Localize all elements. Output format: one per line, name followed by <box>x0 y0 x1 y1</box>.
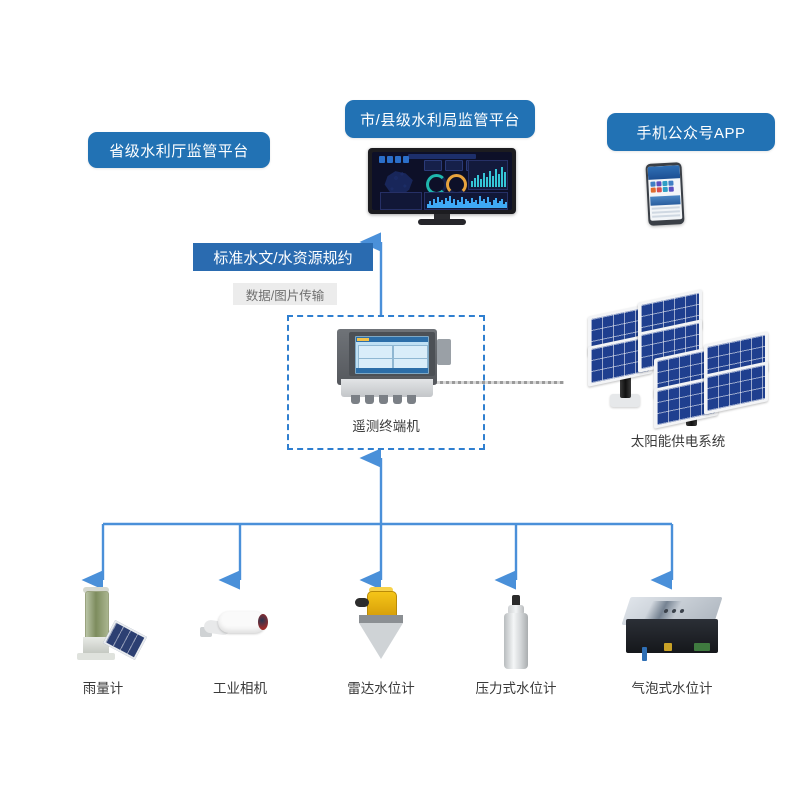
sensor-label: 气泡式水位计 <box>602 677 742 697</box>
platform-province-button[interactable]: 省级水利厅监管平台 <box>88 132 270 168</box>
diagram-canvas: 省级水利厅监管平台 市/县级水利局监管平台 手机公众号APP <box>0 0 800 800</box>
sensor-rain-gauge: 雨量计 <box>33 585 173 697</box>
platform-app-button[interactable]: 手机公众号APP <box>607 113 775 151</box>
rtu-terminal-icon <box>329 329 447 404</box>
protocol-label: 标准水文/水资源规约 <box>193 243 373 271</box>
sensor-radar-level-gauge: 雷达水位计 <box>311 585 451 697</box>
rtu-enclosure <box>337 329 437 385</box>
rtu-display <box>355 336 429 374</box>
rtu-antenna <box>434 381 564 384</box>
phone-list <box>652 206 681 219</box>
industrial-camera-icon <box>170 585 310 671</box>
transmission-label: 数据/图片传输 <box>233 283 337 305</box>
dashboard-trend-chart <box>424 192 508 210</box>
bubble-level-gauge-icon <box>602 585 742 671</box>
rtu-connector <box>437 339 451 365</box>
phone-icon-grid <box>650 180 679 192</box>
pressure-level-gauge-icon <box>446 585 586 671</box>
monitor-icon <box>368 148 516 228</box>
sensor-bubble-level-gauge: 气泡式水位计 <box>602 585 742 697</box>
monitor-bezel <box>368 148 516 214</box>
smartphone-icon <box>645 162 684 226</box>
platform-city-button[interactable]: 市/县级水利局监管平台 <box>345 100 535 138</box>
sensor-label: 工业相机 <box>170 677 310 697</box>
sensor-label: 雷达水位计 <box>311 677 451 697</box>
solar-power-label: 太阳能供电系统 <box>588 430 768 450</box>
monitor-base <box>418 219 466 225</box>
dashboard-title-bar <box>408 154 476 159</box>
sensor-label: 压力式水位计 <box>446 677 586 697</box>
phone-banner <box>650 195 680 206</box>
phone-app-header <box>648 165 681 180</box>
radar-level-gauge-icon <box>311 585 451 671</box>
dashboard-mini-chart <box>380 192 422 210</box>
dashboard-bar-chart <box>468 160 508 190</box>
sensor-label: 雨量计 <box>33 677 173 697</box>
dashboard-chips <box>379 156 409 163</box>
sensor-industrial-camera: 工业相机 <box>170 585 310 697</box>
solar-panel-icon <box>588 300 768 420</box>
sensor-pressure-level-gauge: 压力式水位计 <box>446 585 586 697</box>
monitor-screen <box>372 152 512 210</box>
rain-gauge-icon <box>33 585 173 671</box>
phone-screen <box>648 165 683 221</box>
rtu-label: 遥测终端机 <box>287 415 485 435</box>
